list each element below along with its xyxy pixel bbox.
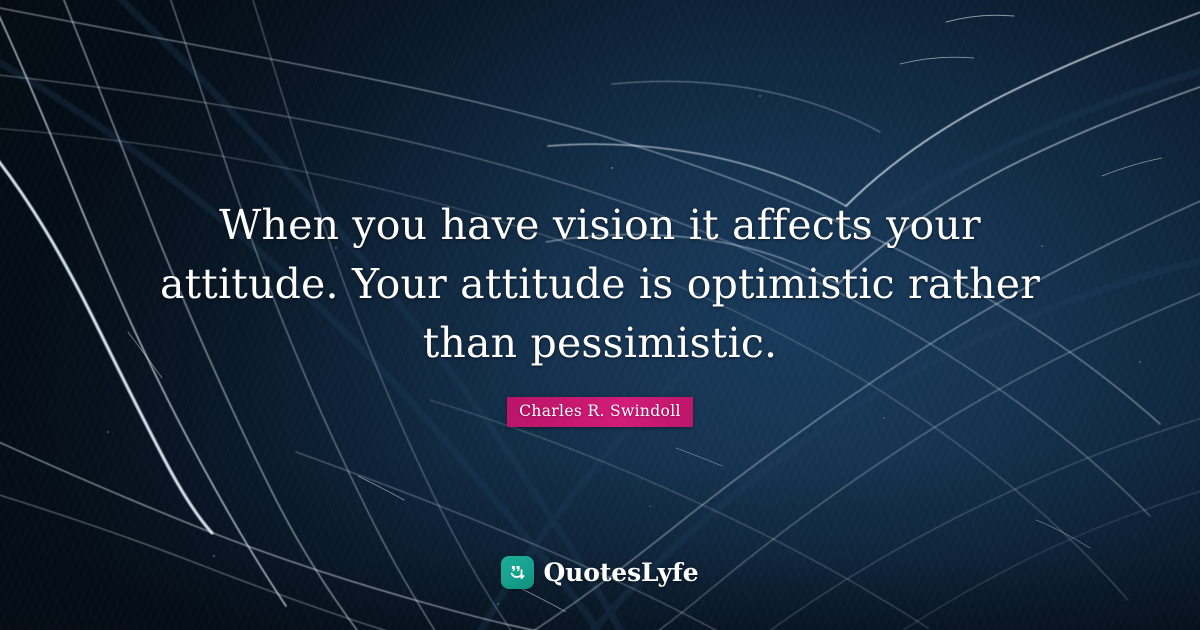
quote-line-3: than pessimistic. [80,314,1120,373]
quotation-mark-icon [501,556,534,589]
quoteslyfe-logo[interactable]: QuotesLyfe [0,556,1200,589]
quote-line-2: attitude. Your attitude is optimistic ra… [80,255,1120,314]
quote-card: When you have vision it affects your att… [0,0,1200,630]
author-badge-container: Charles R. Swindoll [0,397,1200,427]
quoteslyfe-wordmark: QuotesLyfe [543,559,698,586]
quote-line-1: When you have vision it affects your [80,196,1120,255]
author-name-badge[interactable]: Charles R. Swindoll [507,397,693,427]
quote-text-block: When you have vision it affects your att… [0,196,1200,373]
card-content: When you have vision it affects your att… [0,0,1200,630]
